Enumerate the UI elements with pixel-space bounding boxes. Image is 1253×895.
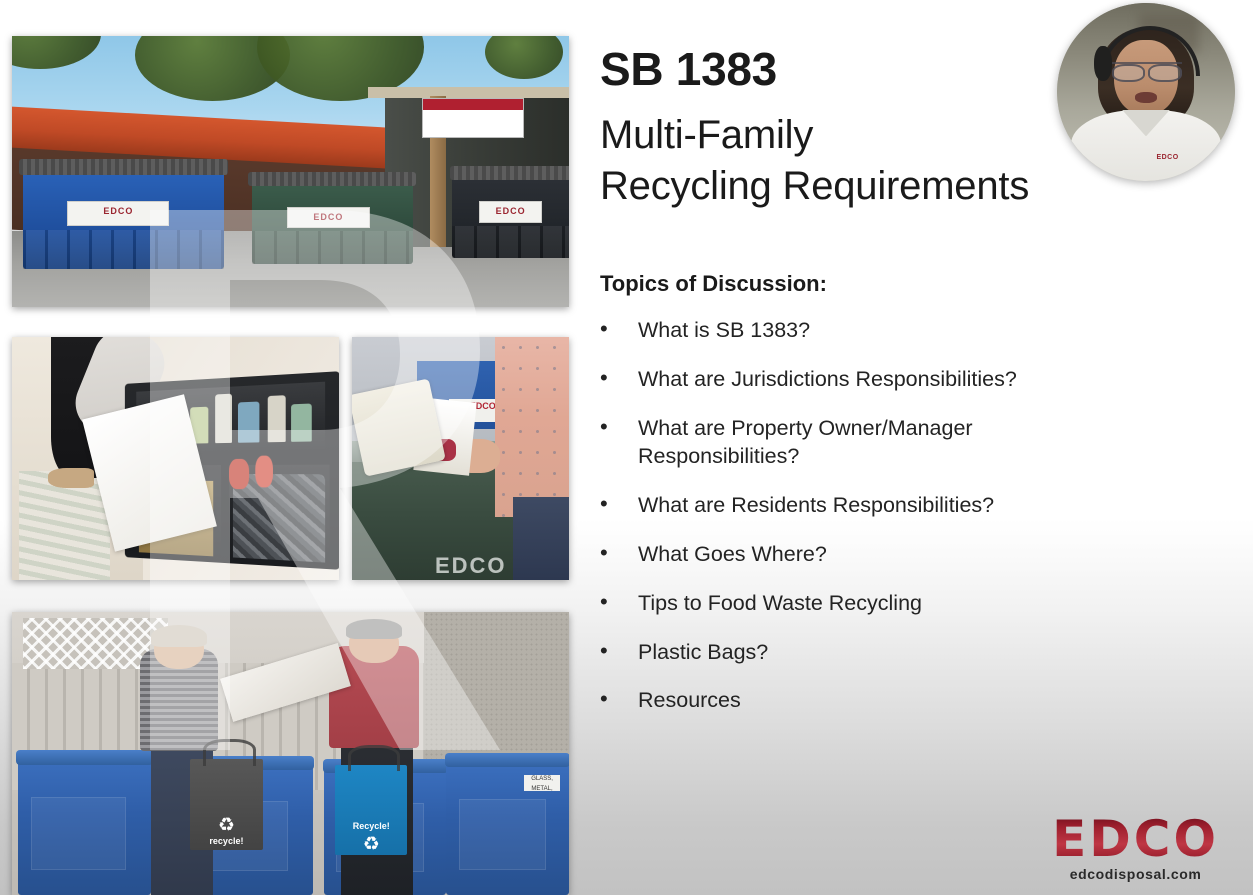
enclosure-roof — [368, 87, 569, 98]
topics-list: What is SB 1383? What are Jurisdictions … — [598, 316, 1128, 735]
trash-bag — [232, 474, 325, 563]
bag-handle — [203, 739, 255, 766]
dumpster-black-trash: EDCO — [452, 177, 569, 258]
dumpster-lid — [248, 172, 416, 186]
dumpster-green-organics: EDCO — [252, 182, 414, 263]
page-subtitle: Multi-Family Recycling Requirements — [600, 110, 1029, 212]
dumpster-lid — [450, 166, 569, 180]
polo-collar — [1122, 110, 1170, 137]
list-item: What are Residents Responsibilities? — [598, 491, 1128, 520]
presenter-polo-shirt: EDCO — [1071, 110, 1221, 181]
cart-lid — [445, 753, 569, 768]
topics-heading: Topics of Discussion: — [600, 271, 827, 297]
blouse-pattern — [495, 337, 569, 517]
reusable-bag-gray: ♻ recycle! — [190, 759, 262, 850]
dumpster-label: EDCO — [287, 207, 370, 229]
cart-lid — [16, 750, 152, 765]
presentation-slide: EDCO EDCO EDCO — [0, 0, 1253, 895]
blue-cart — [18, 759, 152, 895]
dumpster-ribs — [23, 230, 224, 269]
man-hair — [346, 619, 402, 639]
list-item: Resources — [598, 686, 1128, 715]
cart-logo: EDCO — [435, 553, 507, 579]
list-item: Tips to Food Waste Recycling — [598, 589, 1128, 618]
subtitle-line-1: Multi-Family — [600, 110, 1029, 161]
list-item: What is SB 1383? — [598, 316, 1128, 345]
bag-label: recycle! — [209, 836, 243, 846]
dumpster-blue-recycling: EDCO — [23, 172, 224, 270]
cart-panel — [31, 797, 127, 870]
photo-dumpster-enclosure: EDCO EDCO EDCO — [12, 36, 569, 307]
photo-organics-cart: EDCO EDCO — [352, 337, 569, 580]
dumpster-ribs — [252, 231, 414, 264]
edco-wordmark: EDCO — [1052, 814, 1219, 864]
headset-earcup-icon — [1094, 46, 1112, 82]
dumpster-lid — [19, 159, 228, 176]
cart-sticker: GLASS, METAL, PLASTIC — [524, 775, 561, 791]
list-item: Plastic Bags? — [598, 638, 1128, 667]
list-item: What are Property Owner/Manager Responsi… — [598, 414, 1128, 472]
dumpster-ribs — [452, 226, 569, 259]
woman-hair — [151, 625, 207, 648]
presenter-mouth — [1135, 92, 1156, 103]
person-torso — [495, 337, 569, 517]
list-item: What are Jurisdictions Responsibilities? — [598, 365, 1128, 394]
person-jeans — [513, 497, 569, 580]
bag-label: Recycle! — [353, 821, 390, 831]
sign-header-bar — [423, 99, 523, 110]
dumpster-label: EDCO — [67, 201, 169, 226]
page-title: SB 1383 — [600, 46, 777, 92]
list-item: What Goes Where? — [598, 540, 1128, 569]
bag-handle — [348, 745, 400, 772]
recycle-symbol-icon: ♻ — [218, 816, 235, 835]
subtitle-line-2: Recycling Requirements — [600, 161, 1029, 212]
edco-website-url: edcodisposal.com — [1052, 866, 1219, 882]
photo-kitchen-sorting — [12, 337, 339, 580]
polo-logo: EDCO — [1156, 154, 1178, 161]
reusable-bag-blue: Recycle! ♻ — [335, 765, 407, 856]
warning-sign — [422, 98, 524, 138]
blue-cart: GLASS, METAL, PLASTIC — [446, 762, 569, 895]
edco-logo: EDCO edcodisposal.com — [1052, 814, 1219, 882]
cart-panel — [459, 799, 547, 870]
recycle-symbol-icon: ♻ — [363, 835, 380, 854]
presenter-webcam-bubble[interactable]: EDCO — [1057, 3, 1235, 181]
photo-residents-recycling: GLASS, METAL, PLASTIC ♻ recycle! Recycle… — [12, 612, 569, 895]
person-shoe — [48, 468, 94, 487]
dumpster-label: EDCO — [479, 201, 542, 223]
